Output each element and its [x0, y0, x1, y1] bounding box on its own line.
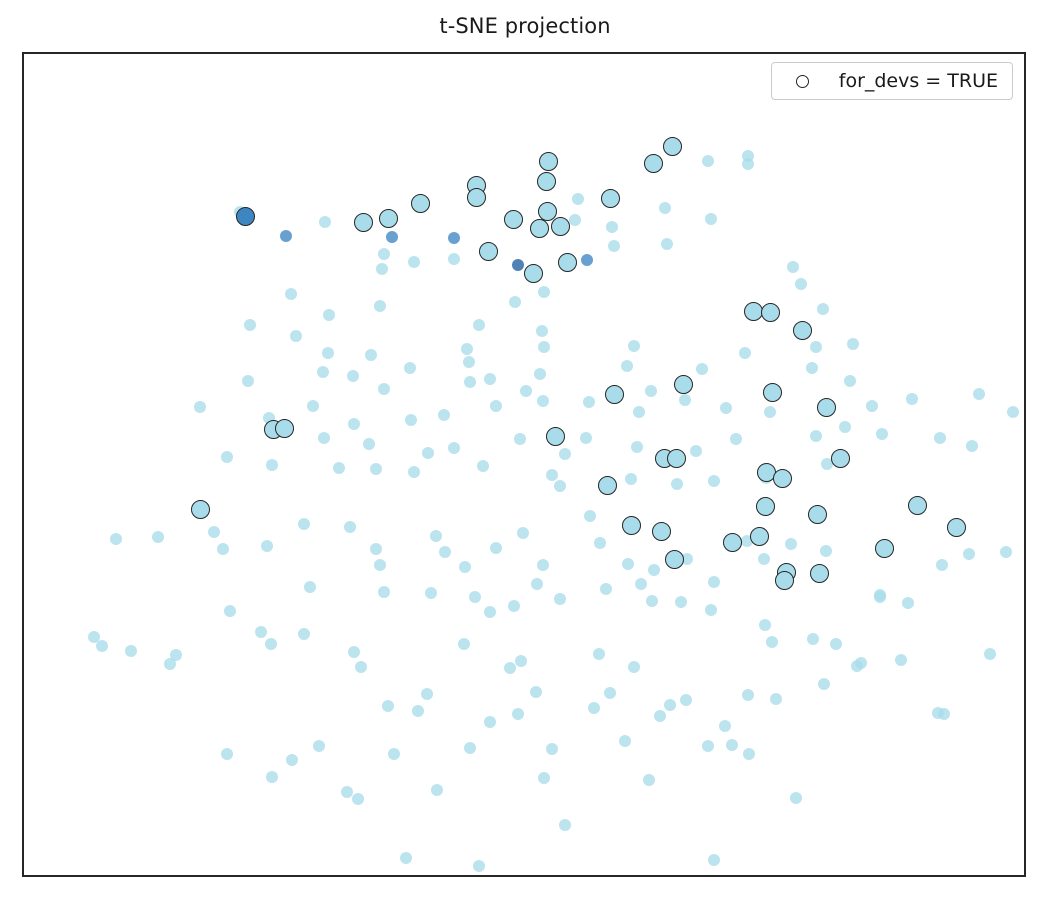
- scatter-point-for-devs-true: [605, 385, 624, 404]
- scatter-point-for-devs-true: [467, 188, 486, 207]
- scatter-point-for-devs-false: [820, 545, 832, 557]
- scatter-point-for-devs-false: [588, 702, 600, 714]
- scatter-point-for-devs-false: [341, 786, 353, 798]
- scatter-point-for-devs-true: [793, 321, 812, 340]
- scatter-point-for-devs-false: [255, 626, 267, 638]
- scatter-point-for-devs-false: [464, 376, 476, 388]
- scatter-point-for-devs-false: [421, 688, 433, 700]
- scatter-point-for-devs-true: [537, 172, 556, 191]
- scatter-point-for-devs-false: [96, 640, 108, 652]
- scatter-point-for-devs-true: [817, 398, 836, 417]
- scatter-point-for-devs-false: [286, 754, 298, 766]
- scatter-point-for-devs-false: [388, 748, 400, 760]
- scatter-point-for-devs-false: [217, 543, 229, 555]
- scatter-point-for-devs-false: [628, 661, 640, 673]
- scatter-point-for-devs-false: [170, 649, 182, 661]
- scatter-point-for-devs-false: [448, 253, 460, 265]
- scatter-point-for-devs-false: [370, 463, 382, 475]
- scatter-point-for-devs-false: [322, 347, 334, 359]
- scatter-point-for-devs-false: [902, 597, 914, 609]
- scatter-point-for-devs-false: [581, 254, 593, 266]
- scatter-point-for-devs-false: [806, 362, 818, 374]
- scatter-point-for-devs-false: [363, 438, 375, 450]
- scatter-point-for-devs-true: [546, 427, 565, 446]
- scatter-point-for-devs-false: [708, 854, 720, 866]
- scatter-point-for-devs-false: [538, 772, 550, 784]
- scatter-point-for-devs-false: [110, 533, 122, 545]
- scatter-point-for-devs-false: [536, 325, 548, 337]
- scatter-point-for-devs-false: [758, 553, 770, 565]
- scatter-point-for-devs-false: [739, 347, 751, 359]
- scatter-point-for-devs-false: [461, 343, 473, 355]
- scatter-point-for-devs-false: [504, 662, 516, 674]
- scatter-point-for-devs-false: [770, 693, 782, 705]
- scatter-point-for-devs-false: [531, 578, 543, 590]
- scatter-point-for-devs-false: [512, 708, 524, 720]
- scatter-point-for-devs-false: [830, 638, 842, 650]
- scatter-point-for-devs-true: [908, 496, 927, 515]
- scatter-point-for-devs-false: [807, 633, 819, 645]
- scatter-point-for-devs-true: [598, 476, 617, 495]
- scatter-point-for-devs-false: [702, 740, 714, 752]
- scatter-point-for-devs-true: [275, 419, 294, 438]
- scatter-point-for-devs-true: [875, 539, 894, 558]
- scatter-point-for-devs-false: [646, 595, 658, 607]
- scatter-point-for-devs-true: [652, 522, 671, 541]
- scatter-point-for-devs-false: [537, 395, 549, 407]
- scatter-point-for-devs-true: [524, 264, 543, 283]
- scatter-point-for-devs-false: [355, 661, 367, 673]
- scatter-point-for-devs-false: [730, 433, 742, 445]
- scatter-point-for-devs-false: [508, 600, 520, 612]
- scatter-point-for-devs-false: [280, 230, 292, 242]
- scatter-point-for-devs-false: [490, 400, 502, 412]
- scatter-point-for-devs-false: [469, 591, 481, 603]
- scatter-point-for-devs-false: [817, 303, 829, 315]
- scatter-point-for-devs-false: [352, 793, 364, 805]
- scatter-point-for-devs-false: [583, 396, 595, 408]
- scatter-point-for-devs-false: [370, 543, 382, 555]
- scatter-point-for-devs-false: [790, 792, 802, 804]
- scatter-point-for-devs-false: [628, 340, 640, 352]
- scatter-point-for-devs-false: [664, 699, 676, 711]
- scatter-point-for-devs-false: [973, 388, 985, 400]
- scatter-point-for-devs-false: [648, 564, 660, 576]
- scatter-point-for-devs-false: [244, 319, 256, 331]
- scatter-point-for-devs-false: [569, 214, 581, 226]
- scatter-point-for-devs-false: [430, 530, 442, 542]
- scatter-point-for-devs-false: [261, 540, 273, 552]
- scatter-point-for-devs-false: [787, 261, 799, 273]
- scatter-point-for-devs-true: [663, 137, 682, 156]
- scatter-point-for-devs-false: [839, 421, 851, 433]
- scatter-point-for-devs-false: [622, 558, 634, 570]
- scatter-point-for-devs-false: [376, 263, 388, 275]
- scatter-point-for-devs-false: [635, 578, 647, 590]
- scatter-point-for-devs-false: [708, 475, 720, 487]
- scatter-point-for-devs-false: [554, 480, 566, 492]
- scatter-point-for-devs-true: [644, 154, 663, 173]
- scatter-point-for-devs-false: [464, 742, 476, 754]
- scatter-point-for-devs-false: [705, 213, 717, 225]
- scatter-point-for-devs-false: [422, 447, 434, 459]
- scatter-point-for-devs-false: [439, 546, 451, 558]
- scatter-point-for-devs-false: [386, 231, 398, 243]
- scatter-point-for-devs-false: [515, 655, 527, 667]
- scatter-point-for-devs-false: [742, 150, 754, 162]
- scatter-point-for-devs-false: [680, 694, 692, 706]
- page-title: t-SNE projection: [0, 14, 1050, 38]
- scatter-point-for-devs-false: [554, 593, 566, 605]
- scatter-point-for-devs-true: [354, 213, 373, 232]
- scatter-point-for-devs-false: [448, 232, 460, 244]
- scatter-points-layer: [24, 54, 1024, 875]
- scatter-point-for-devs-false: [764, 406, 776, 418]
- scatter-point-for-devs-false: [584, 510, 596, 522]
- scatter-point-for-devs-false: [242, 375, 254, 387]
- scatter-point-for-devs-false: [874, 591, 886, 603]
- scatter-point-for-devs-false: [906, 393, 918, 405]
- scatter-point-for-devs-false: [759, 619, 771, 631]
- scatter-point-for-devs-false: [408, 256, 420, 268]
- scatter-point-for-devs-false: [517, 527, 529, 539]
- scatter-point-for-devs-false: [690, 445, 702, 457]
- scatter-point-for-devs-false: [593, 648, 605, 660]
- scatter-point-for-devs-false: [431, 784, 443, 796]
- scatter-point-for-devs-false: [963, 548, 975, 560]
- scatter-point-for-devs-false: [654, 710, 666, 722]
- scatter-point-for-devs-true: [744, 302, 763, 321]
- scatter-point-for-devs-true: [756, 497, 775, 516]
- scatter-point-for-devs-false: [313, 740, 325, 752]
- scatter-point-for-devs-true: [775, 571, 794, 590]
- scatter-point-for-devs-false: [412, 705, 424, 717]
- scatter-point-for-devs-false: [221, 451, 233, 463]
- scatter-point-for-devs-false: [675, 596, 687, 608]
- scatter-point-for-devs-false: [785, 538, 797, 550]
- scatter-point-for-devs-false: [708, 576, 720, 588]
- scatter-point-for-devs-false: [661, 238, 673, 250]
- scatter-point-for-devs-false: [458, 638, 470, 650]
- scatter-point-for-devs-true: [551, 217, 570, 236]
- scatter-point-for-devs-false: [425, 587, 437, 599]
- scatter-point-for-devs-false: [473, 319, 485, 331]
- scatter-point-for-devs-false: [512, 259, 524, 271]
- scatter-point-for-devs-false: [266, 771, 278, 783]
- scatter-point-for-devs-false: [484, 606, 496, 618]
- scatter-point-for-devs-false: [702, 155, 714, 167]
- scatter-point-for-devs-false: [705, 604, 717, 616]
- scatter-point-for-devs-true: [773, 469, 792, 488]
- scatter-point-for-devs-false: [572, 193, 584, 205]
- legend-marker-circle-icon: [796, 75, 809, 88]
- scatter-point-for-devs-false: [671, 478, 683, 490]
- scatter-point-for-devs-false: [221, 748, 233, 760]
- scatter-point-for-devs-false: [378, 586, 390, 598]
- scatter-point-for-devs-false: [318, 432, 330, 444]
- legend[interactable]: for_devs = TRUE: [771, 62, 1013, 100]
- scatter-point-for-devs-false: [323, 309, 335, 321]
- scatter-point-for-devs-false: [265, 638, 277, 650]
- scatter-point-for-devs-false: [520, 385, 532, 397]
- scatter-point-for-devs-true: [750, 527, 769, 546]
- scatter-point-for-devs-false: [810, 430, 822, 442]
- scatter-point-for-devs-false: [876, 428, 888, 440]
- scatter-point-for-devs-false: [866, 400, 878, 412]
- scatter-point-for-devs-false: [659, 202, 671, 214]
- scatter-point-for-devs-false: [208, 526, 220, 538]
- scatter-point-for-devs-false: [378, 383, 390, 395]
- scatter-point-for-devs-false: [463, 356, 475, 368]
- scatter-point-for-devs-false: [696, 363, 708, 375]
- scatter-point-for-devs-false: [855, 657, 867, 669]
- scatter-point-for-devs-true: [538, 202, 557, 221]
- scatter-point-for-devs-false: [546, 469, 558, 481]
- scatter-point-for-devs-false: [645, 385, 657, 397]
- scatter-point-for-devs-true: [674, 375, 693, 394]
- scatter-point-for-devs-false: [348, 646, 360, 658]
- scatter-point-for-devs-true: [236, 207, 255, 226]
- scatter-point-for-devs-false: [818, 678, 830, 690]
- scatter-point-for-devs-false: [285, 288, 297, 300]
- scatter-point-for-devs-false: [608, 240, 620, 252]
- scatter-point-for-devs-true: [601, 189, 620, 208]
- scatter-point-for-devs-false: [932, 707, 944, 719]
- scatter-point-for-devs-false: [290, 330, 302, 342]
- scatter-point-for-devs-false: [378, 248, 390, 260]
- scatter-point-for-devs-false: [720, 402, 732, 414]
- plot-area: for_devs = TRUE: [22, 52, 1026, 877]
- scatter-point-for-devs-false: [459, 561, 471, 573]
- scatter-point-for-devs-true: [808, 505, 827, 524]
- scatter-point-for-devs-false: [319, 216, 331, 228]
- scatter-point-for-devs-false: [600, 583, 612, 595]
- scatter-point-for-devs-true: [947, 518, 966, 537]
- scatter-point-for-devs-false: [534, 368, 546, 380]
- scatter-point-for-devs-true: [479, 242, 498, 261]
- scatter-point-for-devs-true: [810, 564, 829, 583]
- scatter-point-for-devs-false: [795, 278, 807, 290]
- scatter-point-for-devs-false: [382, 700, 394, 712]
- scatter-point-for-devs-false: [538, 286, 550, 298]
- scatter-point-for-devs-false: [484, 716, 496, 728]
- scatter-point-for-devs-false: [633, 406, 645, 418]
- scatter-point-for-devs-false: [374, 559, 386, 571]
- scatter-point-for-devs-false: [514, 433, 526, 445]
- scatter-point-for-devs-false: [408, 466, 420, 478]
- scatter-point-for-devs-false: [304, 581, 316, 593]
- scatter-point-for-devs-false: [538, 341, 550, 353]
- scatter-point-for-devs-false: [405, 414, 417, 426]
- scatter-point-for-devs-false: [477, 460, 489, 472]
- scatter-point-for-devs-true: [622, 516, 641, 535]
- scatter-point-for-devs-true: [558, 253, 577, 272]
- scatter-point-for-devs-false: [546, 743, 558, 755]
- scatter-point-for-devs-false: [606, 221, 618, 233]
- scatter-point-for-devs-false: [266, 459, 278, 471]
- scatter-point-for-devs-true: [530, 219, 549, 238]
- scatter-point-for-devs-true: [763, 383, 782, 402]
- scatter-point-for-devs-false: [936, 559, 948, 571]
- scatter-point-for-devs-false: [643, 774, 655, 786]
- scatter-point-for-devs-false: [679, 394, 691, 406]
- scatter-point-for-devs-true: [667, 449, 686, 468]
- scatter-point-for-devs-false: [298, 518, 310, 530]
- scatter-point-for-devs-false: [726, 739, 738, 751]
- scatter-point-for-devs-false: [448, 442, 460, 454]
- tsne-figure: t-SNE projection for_devs = TRUE: [0, 0, 1050, 900]
- scatter-point-for-devs-true: [723, 533, 742, 552]
- scatter-point-for-devs-false: [810, 341, 822, 353]
- scatter-point-for-devs-false: [743, 748, 755, 760]
- scatter-point-for-devs-false: [895, 654, 907, 666]
- scatter-point-for-devs-true: [504, 210, 523, 229]
- scatter-point-for-devs-false: [333, 462, 345, 474]
- scatter-point-for-devs-false: [365, 349, 377, 361]
- scatter-point-for-devs-false: [374, 300, 386, 312]
- scatter-point-for-devs-false: [484, 373, 496, 385]
- scatter-point-for-devs-false: [1007, 406, 1019, 418]
- scatter-point-for-devs-false: [594, 537, 606, 549]
- scatter-point-for-devs-false: [934, 432, 946, 444]
- scatter-point-for-devs-false: [152, 531, 164, 543]
- scatter-point-for-devs-false: [559, 819, 571, 831]
- scatter-point-for-devs-true: [379, 209, 398, 228]
- scatter-point-for-devs-false: [847, 338, 859, 350]
- scatter-point-for-devs-false: [224, 605, 236, 617]
- scatter-point-for-devs-false: [559, 448, 571, 460]
- scatter-point-for-devs-false: [317, 366, 329, 378]
- scatter-point-for-devs-false: [473, 860, 485, 872]
- scatter-point-for-devs-true: [665, 550, 684, 569]
- scatter-point-for-devs-false: [719, 720, 731, 732]
- scatter-point-for-devs-false: [490, 542, 502, 554]
- scatter-point-for-devs-false: [403, 876, 415, 877]
- scatter-point-for-devs-false: [194, 401, 206, 413]
- scatter-point-for-devs-false: [125, 645, 137, 657]
- scatter-point-for-devs-false: [966, 440, 978, 452]
- scatter-point-for-devs-false: [766, 636, 778, 648]
- scatter-point-for-devs-false: [621, 360, 633, 372]
- scatter-point-for-devs-false: [631, 441, 643, 453]
- scatter-point-for-devs-false: [742, 689, 754, 701]
- scatter-point-for-devs-false: [984, 648, 996, 660]
- scatter-point-for-devs-true: [761, 303, 780, 322]
- scatter-point-for-devs-true: [191, 500, 210, 519]
- scatter-point-for-devs-false: [298, 628, 310, 640]
- scatter-point-for-devs-false: [404, 362, 416, 374]
- scatter-point-for-devs-false: [344, 521, 356, 533]
- scatter-point-for-devs-false: [604, 687, 616, 699]
- scatter-point-for-devs-true: [411, 194, 430, 213]
- scatter-point-for-devs-false: [537, 559, 549, 571]
- scatter-point-for-devs-false: [348, 418, 360, 430]
- scatter-point-for-devs-false: [400, 852, 412, 864]
- scatter-point-for-devs-false: [438, 409, 450, 421]
- legend-item-label: for_devs = TRUE: [839, 70, 998, 92]
- scatter-point-for-devs-false: [844, 375, 856, 387]
- scatter-point-for-devs-false: [580, 432, 592, 444]
- scatter-point-for-devs-false: [509, 296, 521, 308]
- scatter-point-for-devs-false: [307, 400, 319, 412]
- scatter-point-for-devs-true: [831, 449, 850, 468]
- scatter-point-for-devs-false: [530, 686, 542, 698]
- scatter-point-for-devs-false: [1000, 546, 1012, 558]
- scatter-point-for-devs-false: [619, 735, 631, 747]
- scatter-point-for-devs-true: [539, 152, 558, 171]
- scatter-point-for-devs-false: [347, 370, 359, 382]
- scatter-point-for-devs-false: [625, 473, 637, 485]
